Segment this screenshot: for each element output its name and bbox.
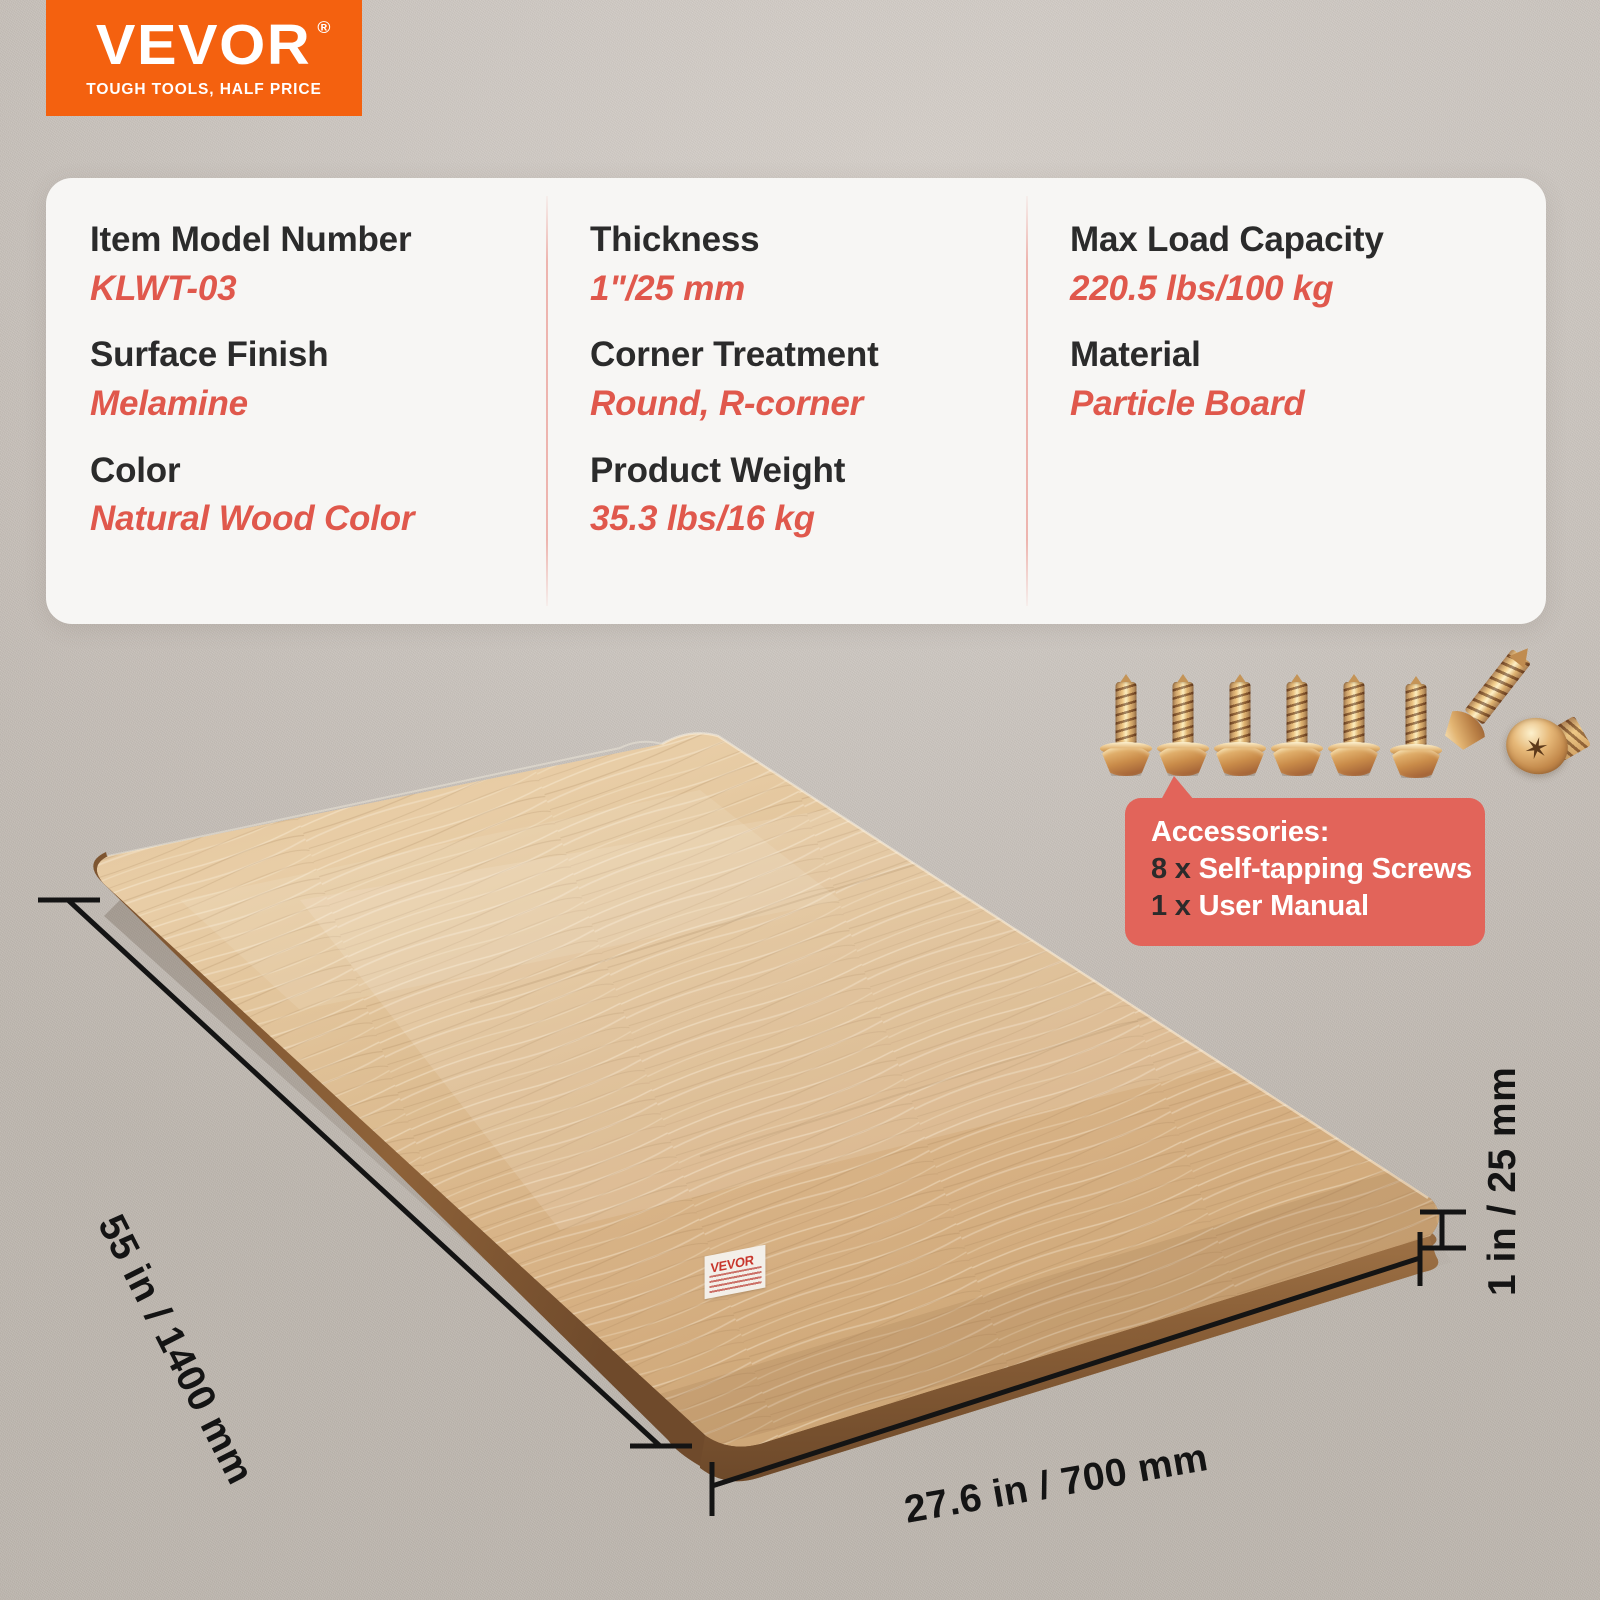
product-infographic: VEVOR VEVOR ® TOUGH TOOLS, HALF PRICE It… [0, 0, 1600, 1600]
accessories-item: 8 x Self-tapping Screws [1151, 851, 1463, 889]
spec-item-max-load-capacity: Max Load Capacity 220.5 lbs/100 kg [1070, 218, 1546, 311]
accessories-title: Accessories: [1151, 814, 1463, 851]
accessories-item-qty: 1 x [1151, 890, 1191, 922]
spec-label: Item Model Number [90, 218, 546, 263]
spec-item-product-weight: Product Weight 35.3 lbs/16 kg [590, 449, 1026, 542]
screw-head [1214, 746, 1266, 776]
spec-item-model-number: Item Model Number KLWT-03 [90, 218, 546, 311]
spec-value: 1"/25 mm [590, 266, 1026, 312]
screw-icon [1269, 678, 1325, 782]
registered-trademark-icon: ® [318, 19, 333, 36]
spec-value: 220.5 lbs/100 kg [1070, 266, 1546, 312]
accessories-callout: Accessories: 8 x Self-tapping Screws 1 x… [1125, 798, 1485, 946]
spec-column-3: Max Load Capacity 220.5 lbs/100 kg Mater… [1026, 178, 1546, 624]
screw-shank [1173, 682, 1194, 744]
spec-label: Max Load Capacity [1070, 218, 1546, 263]
screw-icon [1098, 678, 1154, 782]
spec-label: Surface Finish [90, 333, 546, 378]
spec-label: Product Weight [590, 449, 1026, 494]
spec-label: Material [1070, 333, 1546, 378]
spec-value: Natural Wood Color [90, 496, 546, 542]
screw-head [1390, 748, 1442, 778]
screw-head [1271, 746, 1323, 776]
spec-column-2: Thickness 1"/25 mm Corner Treatment Roun… [546, 178, 1026, 624]
accessories-item-qty: 8 x [1151, 853, 1191, 885]
accessories-item: 1 x User Manual [1151, 888, 1463, 926]
screw-icon [1388, 680, 1444, 784]
spec-label: Corner Treatment [590, 333, 1026, 378]
screw-icon [1326, 678, 1382, 782]
spec-value: 35.3 lbs/16 kg [590, 496, 1026, 542]
screw-shank [1287, 682, 1308, 744]
screw-head [1328, 746, 1380, 776]
screw-head [1157, 746, 1209, 776]
spec-column-1: Item Model Number KLWT-03 Surface Finish… [46, 178, 546, 624]
specification-card: Item Model Number KLWT-03 Surface Finish… [46, 178, 1546, 624]
spec-value: KLWT-03 [90, 266, 546, 312]
accessories-item-name: Self-tapping Screws [1199, 853, 1472, 885]
spec-label: Thickness [590, 218, 1026, 263]
screw-shank [1116, 682, 1137, 744]
vevor-logo[interactable]: VEVOR ® TOUGH TOOLS, HALF PRICE [46, 0, 362, 116]
spec-item-corner-treatment: Corner Treatment Round, R-corner [590, 333, 1026, 426]
logo-brand-text: VEVOR [96, 13, 311, 77]
screw-head [1100, 746, 1152, 776]
logo-wordmark: VEVOR ® [96, 17, 311, 74]
screw-top-view-icon: ✶ [1500, 707, 1591, 786]
dimension-label-thickness: 1 in / 25 mm [1481, 1067, 1525, 1296]
screw-icon [1212, 678, 1268, 782]
spec-value: Melamine [90, 381, 546, 427]
spec-value: Particle Board [1070, 381, 1546, 427]
spec-item-color: Color Natural Wood Color [90, 449, 546, 542]
screw-shank [1344, 682, 1365, 744]
spec-item-thickness: Thickness 1"/25 mm [590, 218, 1026, 311]
spec-item-surface-finish: Surface Finish Melamine [90, 333, 546, 426]
spec-item-material: Material Particle Board [1070, 333, 1546, 426]
spec-label: Color [90, 449, 546, 494]
pozidriv-cross-icon: ✶ [1521, 735, 1552, 765]
logo-tagline: TOUGH TOOLS, HALF PRICE [86, 81, 321, 99]
accessories-item-name: User Manual [1199, 890, 1369, 922]
spec-value: Round, R-corner [590, 381, 1026, 427]
screw-icon [1155, 678, 1211, 782]
screw-shank [1230, 682, 1251, 744]
screw-shank [1406, 684, 1427, 746]
